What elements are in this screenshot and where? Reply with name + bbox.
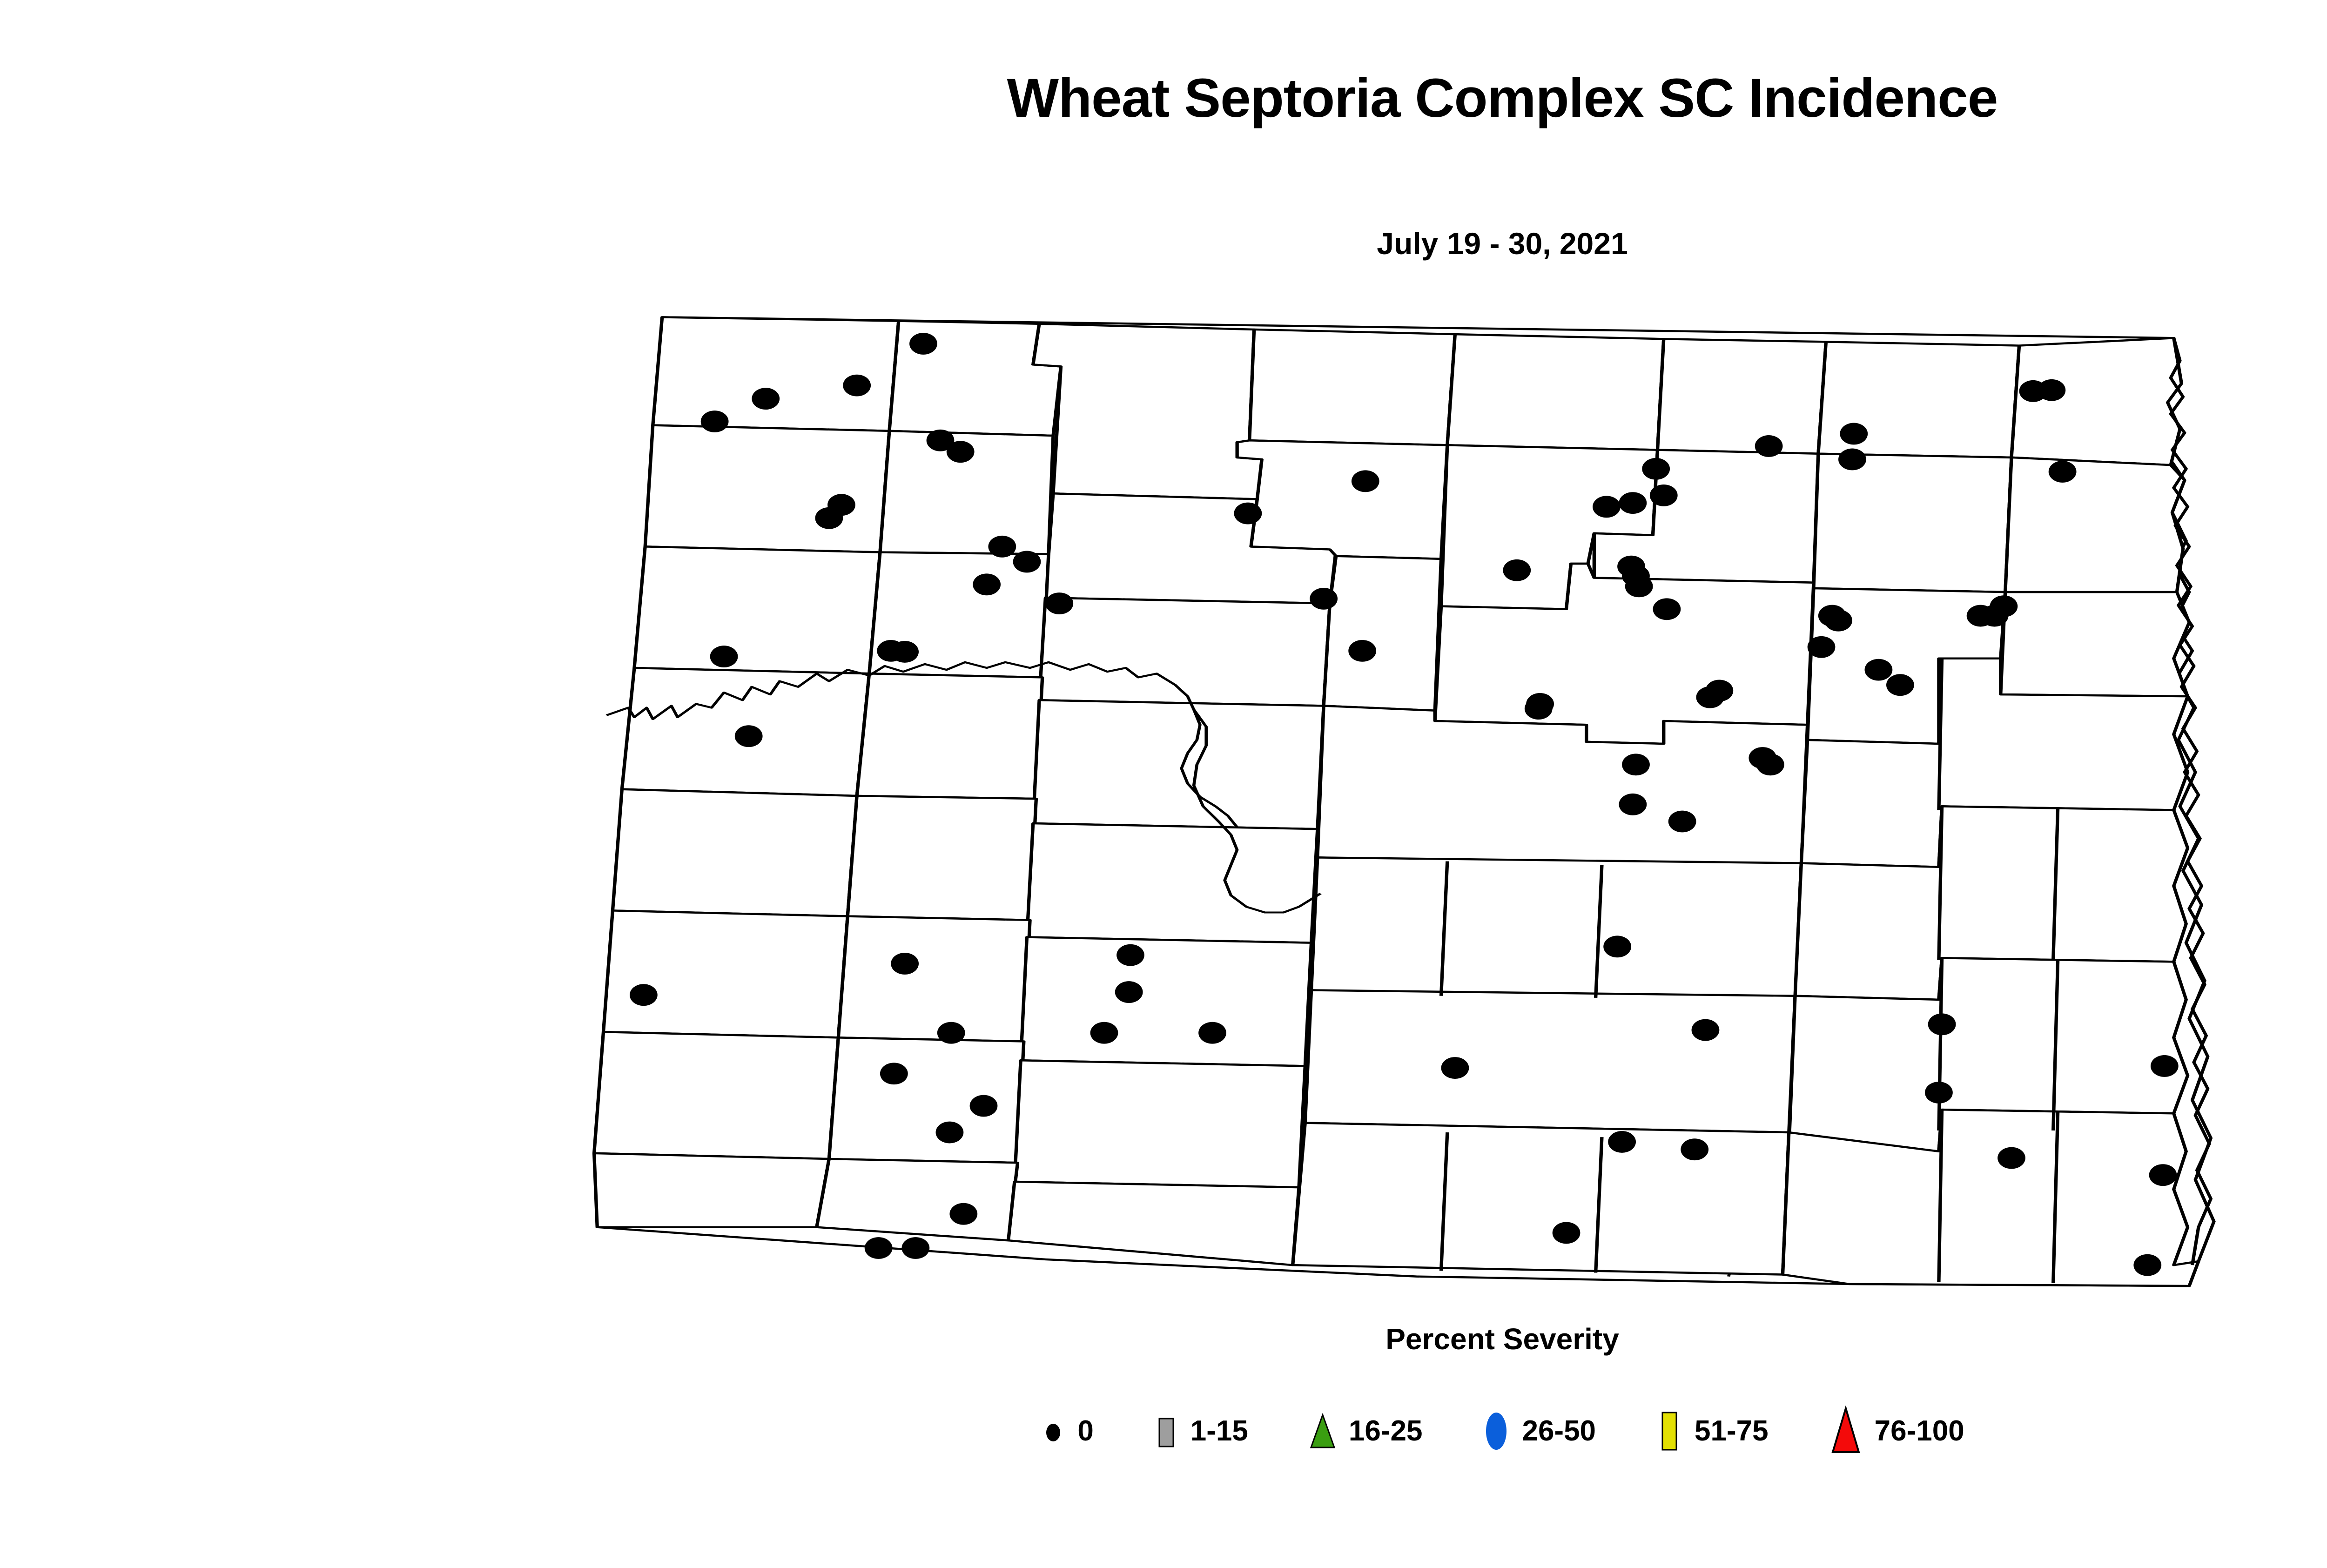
legend-item-51-75[interactable]: 51-75	[1655, 1408, 1769, 1454]
map-data-point	[880, 1063, 908, 1084]
map-data-point	[2049, 461, 2077, 483]
map-data-point	[891, 641, 919, 663]
map-data-point	[1622, 754, 1650, 775]
map-data-point	[973, 573, 1001, 595]
map-data-point	[735, 725, 763, 747]
map-data-point	[1681, 1138, 1708, 1160]
map-data-point	[1840, 423, 1868, 445]
map-data-point	[2151, 1055, 2179, 1077]
map-data-point	[1441, 1057, 1469, 1079]
map-data-point	[1348, 640, 1376, 662]
map-data-point	[1650, 485, 1678, 506]
legend-label-0: 0	[1077, 1417, 1093, 1446]
map-data-point	[1756, 754, 1784, 775]
map-data-point	[988, 536, 1016, 558]
map-data-point	[947, 441, 975, 463]
map-data-point	[1668, 811, 1696, 833]
map-data-point	[1603, 935, 1631, 957]
map-data-point	[1692, 1019, 1720, 1041]
legend-label-16-25: 16-25	[1349, 1417, 1423, 1446]
map-data-point	[1755, 435, 1783, 457]
map-data-point	[1116, 944, 1144, 966]
map-data-point	[937, 1022, 965, 1044]
legend-label-26-50: 26-50	[1522, 1417, 1596, 1446]
map-data-point	[1045, 592, 1073, 614]
map-data-point	[2133, 1254, 2161, 1276]
map-data-point	[949, 1203, 977, 1225]
legend-item-16-25[interactable]: 16-25	[1308, 1411, 1423, 1451]
page-title: Wheat Septoria Complex SC Incidence	[0, 70, 2327, 128]
gray-square-icon	[1153, 1411, 1179, 1451]
map-data-point	[1653, 598, 1681, 620]
legend-label-51-75: 51-75	[1695, 1417, 1769, 1446]
map-data-point	[1198, 1022, 1226, 1044]
map-data-point	[2149, 1164, 2177, 1186]
legend-item-1-15[interactable]: 1-15	[1153, 1411, 1248, 1451]
map-data-point	[909, 333, 937, 355]
map-data-point	[815, 507, 843, 529]
map-data-point	[1090, 1022, 1118, 1044]
map-data-point	[901, 1237, 929, 1259]
map-data-point	[1824, 610, 1852, 632]
map-data-point	[1593, 496, 1621, 518]
map-data-point	[936, 1122, 964, 1144]
map-data-point	[891, 953, 919, 975]
map-data-point	[843, 375, 871, 397]
map-data-point	[710, 646, 738, 667]
green-triangle-icon	[1308, 1411, 1338, 1451]
blue-circle-icon	[1482, 1409, 1511, 1454]
map-data-point	[1608, 1131, 1636, 1153]
map-data-point	[1115, 981, 1143, 1003]
map-data-point	[865, 1237, 893, 1259]
map-data-point	[1503, 559, 1531, 581]
map-data-point	[630, 984, 658, 1006]
red-triangle-icon	[1828, 1406, 1863, 1457]
map-data-point	[2038, 379, 2065, 401]
map-data-point	[1526, 693, 1554, 715]
legend-heading: Percent Severity	[0, 1322, 2327, 1356]
legend: 0 1-15 16-25 26-50 51-75	[0, 1406, 2327, 1457]
black-dot-icon	[1040, 1411, 1066, 1451]
map-data-point	[1808, 636, 1836, 658]
legend-item-0[interactable]: 0	[1040, 1411, 1093, 1451]
map-data-point	[1553, 1222, 1580, 1244]
map-data-point	[1352, 470, 1379, 492]
map-data-point	[1642, 458, 1670, 480]
map-data-point	[1234, 503, 1262, 525]
legend-item-76-100[interactable]: 76-100	[1828, 1406, 1964, 1457]
map-data-point	[1619, 794, 1647, 815]
map-data-point	[1997, 1147, 2025, 1169]
figure-canvas: Wheat Septoria Complex SC Incidence July…	[0, 0, 2327, 1568]
map-data-point	[1013, 551, 1041, 573]
map-data-point	[1981, 605, 2009, 627]
legend-label-76-100: 76-100	[1875, 1417, 1964, 1446]
map-data-point	[1928, 1013, 1956, 1035]
map-data-point	[970, 1095, 998, 1117]
map-data-point	[1886, 674, 1914, 696]
map-data-point	[1865, 659, 1893, 681]
map-data-point	[701, 411, 729, 432]
map-data-point	[1925, 1082, 1953, 1104]
date-range-subtitle: July 19 - 30, 2021	[0, 226, 2327, 261]
map-data-point	[1838, 449, 1866, 471]
map-data-point	[1619, 492, 1647, 514]
map-data-point	[1310, 588, 1338, 610]
map-data-point	[1625, 575, 1653, 597]
map-data-point	[1696, 686, 1724, 708]
yellow-square-icon	[1655, 1408, 1683, 1454]
map-data-point	[752, 388, 780, 410]
legend-label-1-15: 1-15	[1190, 1417, 1248, 1446]
legend-item-26-50[interactable]: 26-50	[1482, 1409, 1596, 1454]
north-dakota-county-map	[582, 279, 2266, 1312]
